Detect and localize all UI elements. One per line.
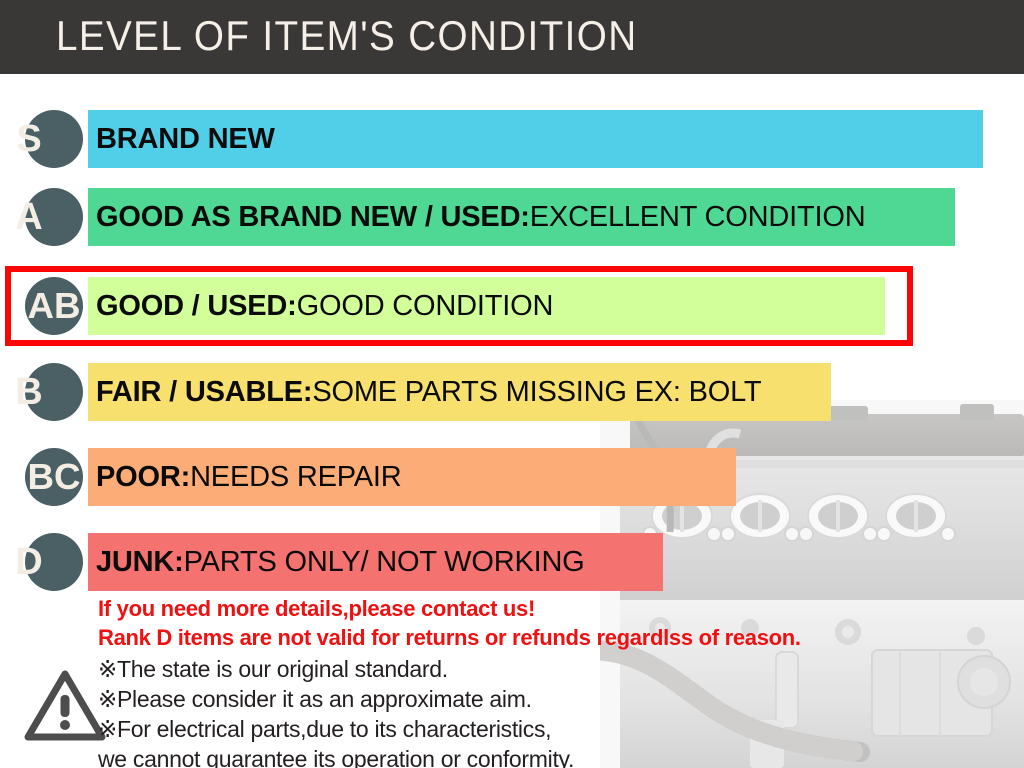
rank-description-regular-d: PARTS ONLY/ NOT WORKING [184,546,585,579]
rank-description-regular-bc: NEEDS REPAIR [190,461,401,494]
rank-badge-label-ab: AB [17,277,90,335]
notice-gray-block: ※The state is our original standard. ※Pl… [98,655,574,768]
rank-row-s[interactable]: SBRAND NEW [0,110,1024,168]
rank-badge-label-a: A [0,188,58,246]
rank-description-regular-a: EXCELLENT CONDITION [530,201,866,234]
condition-level-infographic: LEVEL OF ITEM'S CONDITION SBRAND NEWAGOO… [0,0,1024,768]
rank-description-bold-d: JUNK: [96,546,184,579]
rank-row-ab[interactable]: ABGOOD / USED: GOOD CONDITION [0,277,1024,335]
rank-description-d: JUNK: PARTS ONLY/ NOT WORKING [96,533,585,591]
rank-description-s: BRAND NEW [96,110,275,168]
rank-row-bc[interactable]: BCPOOR: NEEDS REPAIR [0,448,1024,506]
rank-row-b[interactable]: B FAIR / USABLE: SOME PARTS MISSING EX: … [0,363,1024,421]
header-bar: LEVEL OF ITEM'S CONDITION [0,0,1024,74]
rank-badge-label-s: S [0,110,58,168]
warning-triangle-icon [23,667,107,743]
rank-description-bold-b: FAIR / USABLE: [96,376,312,409]
notice-gray-line-1: ※The state is our original standard. [98,655,574,685]
rank-row-d[interactable]: D JUNK: PARTS ONLY/ NOT WORKING [0,533,1024,591]
rank-description-regular-ab: GOOD CONDITION [297,290,554,323]
rank-description-regular-b: SOME PARTS MISSING EX: BOLT [312,376,761,409]
rank-description-a: GOOD AS BRAND NEW / USED: EXCELLENT COND… [96,188,865,246]
notice-red-block: If you need more details,please contact … [98,594,801,652]
rank-description-bold-ab: GOOD / USED: [96,290,297,323]
notice-gray-line-3: ※For electrical parts,due to its charact… [98,715,574,745]
rank-badge-label-bc: BC [17,448,90,506]
notice-gray-line-4: we cannot guarantee its operation or con… [98,745,574,768]
notice-red-line-2: Rank D items are not valid for returns o… [98,623,801,652]
rank-description-bold-bc: POOR: [96,461,190,494]
rank-description-bc: POOR: NEEDS REPAIR [96,448,401,506]
rank-badge-label-d: D [0,533,58,591]
rank-description-b: FAIR / USABLE: SOME PARTS MISSING EX: BO… [96,363,761,421]
rank-description-bold-s: BRAND NEW [96,123,275,156]
rank-description-ab: GOOD / USED: GOOD CONDITION [96,277,553,335]
notice-red-line-1: If you need more details,please contact … [98,594,801,623]
page-title: LEVEL OF ITEM'S CONDITION [56,12,637,60]
rank-badge-label-b: B [0,363,58,421]
rank-row-a[interactable]: AGOOD AS BRAND NEW / USED: EXCELLENT CON… [0,188,1024,246]
rank-description-bold-a: GOOD AS BRAND NEW / USED: [96,201,530,234]
notice-gray-line-2: ※Please consider it as an approximate ai… [98,685,574,715]
